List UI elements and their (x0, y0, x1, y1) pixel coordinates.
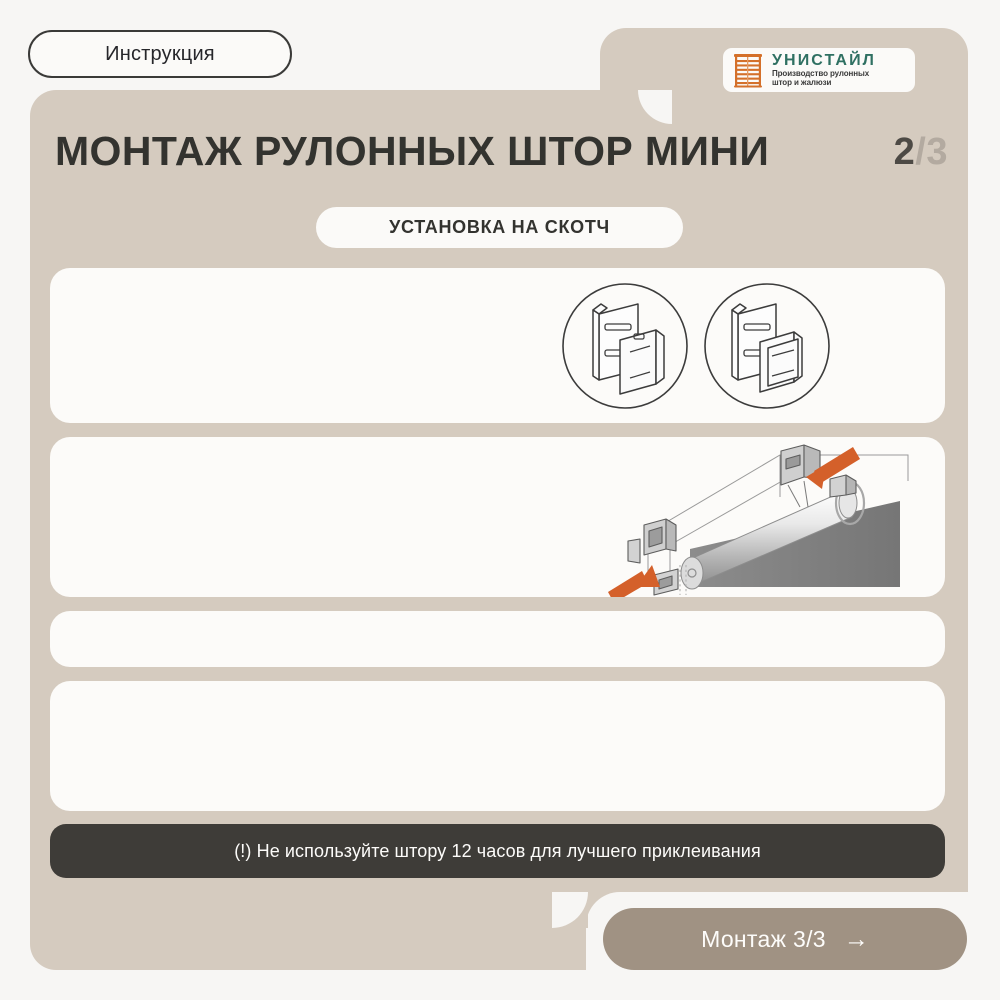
bracket-platform-illustration-left (560, 282, 690, 415)
footer-notch-corner (552, 892, 588, 928)
section-subtitle-label: УСТАНОВКА НА СКОТЧ (389, 217, 610, 238)
page-counter-total: /3 (915, 131, 948, 173)
roller-blind-icon (731, 52, 765, 88)
bracket-platform-illustration-right (702, 282, 832, 415)
instruction-badge: Инструкция (28, 30, 292, 78)
step-card-3 (50, 611, 945, 667)
section-subtitle-pill: УСТАНОВКА НА СКОТЧ (316, 207, 683, 248)
logo-brand-name: УНИСТАЙЛ (772, 53, 876, 69)
brand-logo: УНИСТАЙЛ Производство рулонных штор и жа… (723, 48, 915, 92)
next-page-button[interactable]: Монтаж 3/3 → (603, 908, 967, 970)
instruction-badge-label: Инструкция (105, 43, 215, 66)
arrow-right-icon: → (844, 927, 869, 952)
logo-tagline-line-2: штор и жалюзи (772, 79, 876, 87)
page-counter-current: 2 (894, 131, 916, 173)
warning-text: (!) Не используйте штору 12 часов для лу… (234, 841, 761, 862)
step-card-4 (50, 681, 945, 811)
panel-notch-corner (638, 90, 672, 124)
warning-banner: (!) Не используйте штору 12 часов для лу… (50, 824, 945, 878)
next-page-label: Монтаж 3/3 (701, 926, 826, 953)
roller-blind-assembly-illustration (608, 437, 945, 597)
page-counter: 2/3 (894, 131, 948, 174)
page-title: МОНТАЖ РУЛОННЫХ ШТОР МИНИ (55, 128, 769, 175)
logo-tagline-line-1: Производство рулонных (772, 70, 876, 78)
